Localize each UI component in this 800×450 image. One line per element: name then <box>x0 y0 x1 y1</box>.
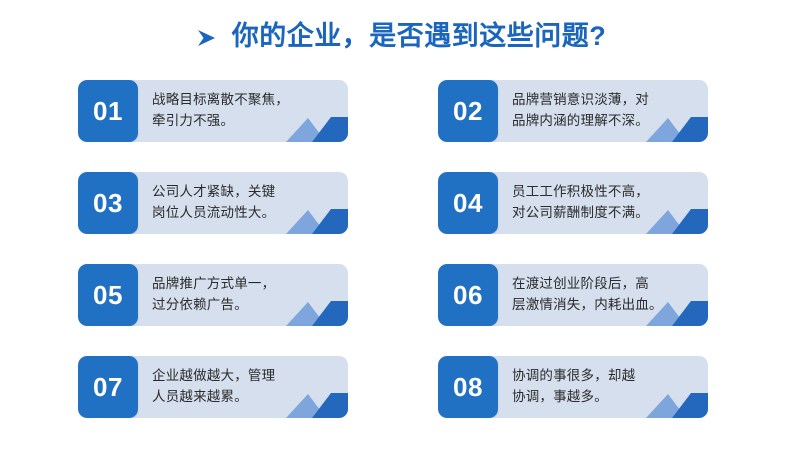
mountain-decoration-icon <box>286 296 348 326</box>
card-number: 04 <box>453 190 483 216</box>
card-body: 战略目标离散不聚焦， 牵引力不强。 <box>138 80 348 142</box>
mountain-decoration-icon <box>646 112 708 142</box>
problem-card[interactable]: 03 公司人才紧缺，关键 岗位人员流动性大。 <box>78 172 348 234</box>
mountain-decoration-icon <box>646 204 708 234</box>
card-text: 企业越做越大，管理 人员越来越累。 <box>152 366 275 408</box>
card-number-badge: 05 <box>78 264 138 326</box>
card-body: 品牌营销意识淡薄，对 品牌内涵的理解不深。 <box>498 80 708 142</box>
card-number-badge: 01 <box>78 80 138 142</box>
problem-card[interactable]: 08 协调的事很多，却越 协调，事越多。 <box>438 356 708 418</box>
card-number: 08 <box>453 374 483 400</box>
slide-root: 你的企业，是否遇到这些问题? 01 战略目标离散不聚焦， 牵引力不强。 02 品… <box>0 0 800 450</box>
card-number-badge: 06 <box>438 264 498 326</box>
card-number: 06 <box>453 282 483 308</box>
card-text: 品牌营销意识淡薄，对 品牌内涵的理解不深。 <box>512 90 649 132</box>
card-body: 品牌推广方式单一， 过分依赖广告。 <box>138 264 348 326</box>
card-body: 企业越做越大，管理 人员越来越累。 <box>138 356 348 418</box>
arrow-right-icon <box>194 25 220 51</box>
card-number: 02 <box>453 98 483 124</box>
problem-card[interactable]: 02 品牌营销意识淡薄，对 品牌内涵的理解不深。 <box>438 80 708 142</box>
page-title: 你的企业，是否遇到这些问题? <box>0 22 800 51</box>
problem-card-grid: 01 战略目标离散不聚焦， 牵引力不强。 02 品牌营销意识淡薄，对 品牌内涵的… <box>78 80 730 428</box>
card-text: 协调的事很多，却越 协调，事越多。 <box>512 366 635 408</box>
mountain-decoration-icon <box>646 388 708 418</box>
card-text: 品牌推广方式单一， 过分依赖广告。 <box>152 274 275 316</box>
card-body: 员工工作积极性不高， 对公司薪酬制度不满。 <box>498 172 708 234</box>
problem-card[interactable]: 07 企业越做越大，管理 人员越来越累。 <box>78 356 348 418</box>
card-number-badge: 02 <box>438 80 498 142</box>
problem-card[interactable]: 04 员工工作积极性不高， 对公司薪酬制度不满。 <box>438 172 708 234</box>
card-body: 协调的事很多，却越 协调，事越多。 <box>498 356 708 418</box>
card-text: 公司人才紧缺，关键 岗位人员流动性大。 <box>152 182 275 224</box>
card-number-badge: 07 <box>78 356 138 418</box>
problem-card[interactable]: 05 品牌推广方式单一， 过分依赖广告。 <box>78 264 348 326</box>
page-title-text: 你的企业，是否遇到这些问题? <box>232 23 607 50</box>
card-body: 在渡过创业阶段后，高 层激情消失，内耗出血。 <box>498 264 708 326</box>
card-text: 战略目标离散不聚焦， 牵引力不强。 <box>152 90 289 132</box>
card-text: 在渡过创业阶段后，高 层激情消失，内耗出血。 <box>512 274 663 316</box>
problem-card[interactable]: 01 战略目标离散不聚焦， 牵引力不强。 <box>78 80 348 142</box>
card-number-badge: 04 <box>438 172 498 234</box>
card-number-badge: 03 <box>78 172 138 234</box>
problem-card[interactable]: 06 在渡过创业阶段后，高 层激情消失，内耗出血。 <box>438 264 708 326</box>
card-number: 07 <box>93 374 123 400</box>
mountain-decoration-icon <box>286 388 348 418</box>
card-number: 01 <box>93 98 123 124</box>
card-text: 员工工作积极性不高， 对公司薪酬制度不满。 <box>512 182 649 224</box>
card-number: 03 <box>93 190 123 216</box>
mountain-decoration-icon <box>286 204 348 234</box>
card-number-badge: 08 <box>438 356 498 418</box>
mountain-decoration-icon <box>286 112 348 142</box>
card-body: 公司人才紧缺，关键 岗位人员流动性大。 <box>138 172 348 234</box>
card-number: 05 <box>93 282 123 308</box>
